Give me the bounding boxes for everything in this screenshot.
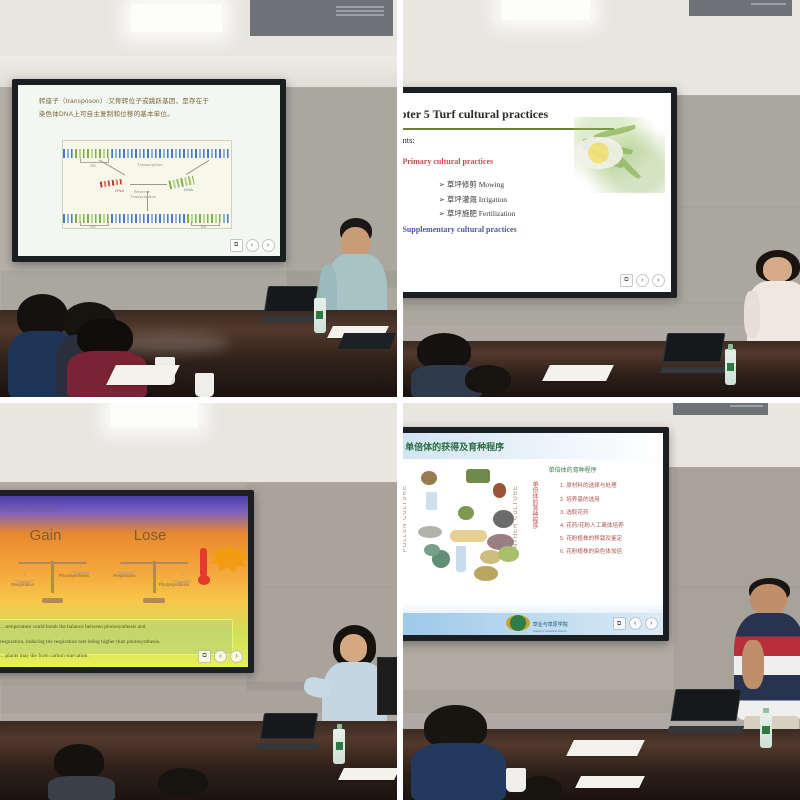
diagram-node-anther — [493, 483, 506, 497]
diagram-node-treatment — [450, 530, 487, 542]
slide-title: 单倍体的获得及育种程序 — [405, 440, 504, 453]
photo-collage: 转座子（transposon）:又称转位子或跳跃基因，是存在于 染色体DNA上可… — [0, 0, 800, 800]
thermometer-bulb — [198, 575, 210, 585]
label-transcription: Transcription — [137, 162, 163, 167]
list-item: 6. 花粉植株的染色体加倍 — [560, 547, 624, 555]
notebook — [339, 333, 396, 349]
hair — [77, 318, 133, 356]
slide-haploid: 单倍体的获得及育种程序 单倍体的育种程序 1. 原材料的选择与处理 2. 培养基… — [403, 433, 663, 635]
slide-body-line1: 转座子（transposon）:又称转位子或跳跃基因，是存在于 — [39, 97, 264, 107]
label-rna: RNA — [115, 188, 124, 193]
ceiling — [0, 403, 397, 482]
frangipani-flower — [574, 137, 622, 169]
arm-left — [744, 291, 760, 338]
diagram-node-plant — [421, 471, 437, 485]
slide-turf: Chapter 5 Turf cultural practices Key po… — [403, 93, 671, 291]
ceiling-light — [111, 403, 198, 427]
photo-panel-bottom-right: 单倍体的获得及育种程序 单倍体的育种程序 1. 原材料的选择与处理 2. 培养基… — [403, 403, 800, 800]
ceiling-light — [131, 4, 222, 32]
laptop-lid — [264, 286, 318, 312]
list-item: 2. 培养基的选用 — [560, 495, 624, 503]
bottle-cap — [317, 293, 323, 299]
diagram-node-callus — [493, 510, 514, 528]
prev-slide-button[interactable]: ‹ — [629, 617, 642, 630]
label-dna: DNA — [184, 187, 193, 192]
hair — [424, 705, 487, 749]
label-re: RE — [90, 163, 96, 168]
laptop — [262, 713, 314, 749]
papers — [575, 776, 644, 788]
projection-screen-frame: Chapter 5 Turf cultural practices Key po… — [403, 87, 677, 297]
audience-member — [151, 768, 218, 800]
sub-bullet-fertilization: ➢ 草坪施肥 Fertilization — [439, 208, 516, 219]
diagram-node-final — [474, 566, 498, 580]
prev-slide-button[interactable]: ‹ — [214, 650, 227, 663]
arrow-down-center — [147, 191, 148, 210]
projection-screen-frame: 转座子（transposon）:又称转位子或跳跃基因，是存在于 染色体DNA上可… — [12, 79, 286, 262]
prev-slide-button[interactable]: ‹ — [636, 274, 649, 287]
slide-title: 5 Heat Stress — [0, 503, 57, 515]
thermometer-icon — [195, 548, 213, 586]
head — [750, 584, 787, 615]
diagram-node-shoot — [498, 546, 519, 562]
wall-panel — [673, 467, 800, 588]
body-line2: respiration, inducing the respiration ra… — [0, 635, 232, 649]
papers — [542, 365, 613, 381]
air-vent-icon — [673, 403, 768, 415]
label-transcription-2: Transcription — [130, 194, 156, 199]
scale-label-photosynthesis: Photosynthesis — [159, 582, 190, 587]
steps-list: 1. 原材料的选择与处理 2. 培养基的选用 3. 选取花药 4. 花药/花粉人… — [546, 481, 624, 560]
water-bottle — [725, 349, 737, 385]
arm-gesturing — [742, 640, 764, 689]
hair — [465, 365, 511, 393]
expand-icon[interactable]: ⧉ — [620, 274, 633, 287]
thermometer-tube — [200, 548, 206, 577]
expand-icon[interactable]: ⧉ — [230, 239, 243, 252]
balance-scale-lose: Respiration Photosynthesis — [116, 553, 192, 604]
bullet-supplementary: Supplementary cultural practices — [403, 225, 517, 234]
head — [763, 257, 792, 282]
logo-subtext: College of Grassland Science — [533, 630, 567, 633]
list-item: 4. 花药/花粉人工离体培养 — [560, 521, 624, 529]
balance-scale-gain: Respiration Photosynthesis — [14, 553, 90, 604]
hair — [54, 744, 104, 778]
wall-panel — [673, 95, 800, 208]
slide-nav[interactable]: ⧉ ‹ › — [198, 650, 243, 663]
diagram-node-pot — [458, 506, 474, 520]
air-vent-icon — [689, 0, 792, 16]
bullet-primary: Primary cultural practices — [403, 157, 493, 166]
projection-screen-frame: 单倍体的获得及育种程序 单倍体的育种程序 1. 原材料的选择与处理 2. 培养基… — [403, 427, 669, 641]
audience-member — [67, 318, 146, 397]
label-re-2: RE — [90, 224, 96, 229]
laptop-lid — [663, 333, 725, 362]
label-re-3: RE — [201, 224, 207, 229]
next-slide-button[interactable]: › — [645, 617, 658, 630]
coffee-cup — [195, 373, 215, 397]
slide-transposon: 转座子（transposon）:又称转位子或跳跃基因，是存在于 染色体DNA上可… — [18, 85, 280, 256]
photo-panel-bottom-left: 5 Heat Stress Gain Lose Respiration Phot… — [0, 403, 397, 800]
laptop — [673, 689, 737, 733]
scale-base — [143, 598, 164, 603]
rna-strand — [100, 179, 124, 188]
bottle-cap — [337, 724, 343, 730]
laptop-base — [257, 743, 320, 749]
diagram-node-pollen-tube — [426, 492, 437, 510]
sun-icon — [207, 544, 248, 573]
diagram-node-tube — [456, 546, 467, 572]
photo-panel-top-right: Chapter 5 Turf cultural practices Key po… — [403, 0, 800, 397]
ceiling-light — [502, 0, 589, 20]
arrow-up-right — [186, 160, 209, 175]
audience-member — [48, 744, 115, 800]
audience-member — [459, 365, 523, 397]
water-bottle — [333, 729, 345, 765]
diagram-node-seedling — [424, 544, 440, 556]
label-breeding-procedure: 单倍体的育种程序 — [530, 481, 539, 529]
logo-text: 草业与草原学院 — [533, 621, 568, 628]
photo-panel-top-left: 转座子（transposon）:又称转位子或跳跃基因，是存在于 染色体DNA上可… — [0, 0, 397, 397]
key-points-label: Key points: — [403, 135, 415, 145]
laptop — [266, 286, 314, 322]
sub-bullet-mowing: ➢ 草坪修剪 Mowing — [439, 179, 504, 190]
expand-icon[interactable]: ⧉ — [613, 617, 626, 630]
laptop-base — [666, 726, 744, 733]
next-slide-button[interactable]: › — [262, 239, 275, 252]
laptop-lid — [260, 713, 318, 739]
arrow-to-rna — [99, 160, 125, 176]
label-pollen-culture: POLLEN CULTURE — [403, 485, 408, 552]
lose-label: Lose — [134, 527, 167, 544]
cup — [506, 768, 526, 792]
scale-label-respiration: Respiration — [113, 573, 136, 578]
head — [340, 634, 367, 662]
slide-subtitle: 单倍体的育种程序 — [549, 465, 597, 474]
bottle-cap — [763, 708, 769, 714]
water-bottle — [314, 298, 326, 334]
papers — [339, 768, 397, 780]
list-item: 5. 花粉植株的移栽及鉴定 — [560, 534, 624, 542]
next-slide-button[interactable]: › — [652, 274, 665, 287]
hair — [158, 768, 208, 796]
wall-panel — [246, 482, 397, 587]
laptop — [665, 333, 721, 373]
university-logo — [506, 615, 530, 631]
scale-label-photosynthesis: Photosynthesis — [59, 573, 90, 578]
list-item: 3. 选取花药 — [560, 508, 624, 516]
transposon-diagram: RE Transcription RNA Reverse Transcripti… — [62, 140, 232, 229]
papers — [566, 740, 645, 756]
bottle-cap — [728, 344, 734, 350]
hair — [417, 333, 471, 369]
gain-label: Gain — [30, 527, 62, 544]
list-item: 1. 原材料的选择与处理 — [560, 481, 624, 489]
scale-post — [153, 561, 156, 593]
sub-bullet-irrigation: ➢ 草坪灌溉 Irrigation — [439, 194, 507, 205]
scale-post — [51, 561, 54, 593]
air-vent-icon — [250, 0, 393, 36]
water-bottle — [760, 713, 772, 749]
diagram-node-pollen-grains — [418, 526, 442, 538]
slide-nav[interactable]: ⧉ ‹ › — [230, 239, 275, 252]
prev-slide-button[interactable]: ‹ — [246, 239, 259, 252]
expand-icon[interactable]: ⧉ — [198, 650, 211, 663]
arrow-reverse-transcription — [130, 184, 167, 185]
slide-title: Chapter 5 Turf cultural practices — [403, 107, 548, 122]
torso-shirt — [411, 743, 506, 800]
audience-member — [411, 705, 506, 800]
slide-body-line2: 染色体DNA上可自主复制和位移的基本单位。 — [39, 110, 264, 120]
slide-nav[interactable]: ⧉ ‹ › — [613, 617, 658, 630]
slide-heat-stress: 5 Heat Stress Gain Lose Respiration Phot… — [0, 496, 248, 667]
laptop-base — [261, 316, 319, 322]
speaker-box — [377, 657, 397, 715]
transposon-insert-top — [75, 149, 112, 158]
papers — [106, 365, 179, 385]
scale-label-respiration: Respiration — [11, 582, 34, 587]
next-slide-button[interactable]: › — [230, 650, 243, 663]
diagram-node-flower — [466, 469, 490, 483]
laptop-base — [659, 367, 727, 373]
projection-screen-frame: 5 Heat Stress Gain Lose Respiration Phot… — [0, 490, 254, 673]
body-line1: …temperature could break the balance bet… — [0, 620, 232, 634]
head — [341, 227, 370, 257]
slide-nav[interactable]: ⧉ ‹ › — [620, 274, 665, 287]
scale-base — [42, 598, 63, 603]
torso-shirt — [48, 776, 115, 800]
laptop-lid — [670, 689, 741, 721]
